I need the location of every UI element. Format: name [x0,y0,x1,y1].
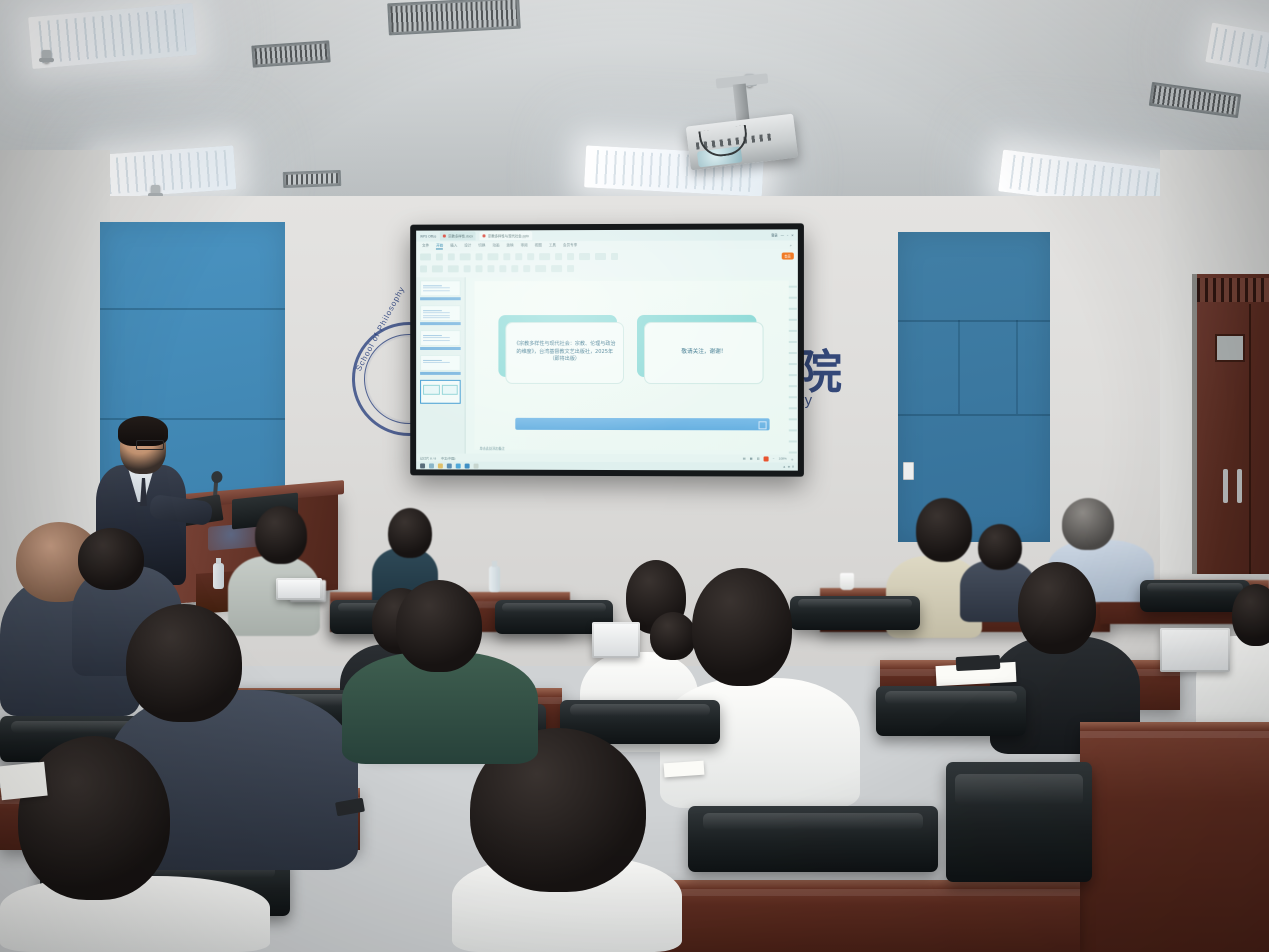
screen-surface: WPS Office 宗教多样性.docx 宗教多样性与现代社会.pptx 登录… [416,229,798,470]
app-titlebar: WPS Office 宗教多样性.docx 宗教多样性与现代社会.pptx 登录… [416,229,798,241]
ribbon-tab-slideshow[interactable]: 放映 [506,243,513,248]
ribbon-tab-file[interactable]: 文件 [422,244,429,249]
slide-card-left-wrap: 《宗教多样性与现代社会：宗教、伦理与政治的维度》，台湾基督教文艺出版社，2025… [506,322,624,384]
text-color-icon[interactable] [464,265,471,272]
desk-row-near-right [1080,722,1269,952]
projection-screen[interactable]: WPS Office 宗教多样性.docx 宗教多样性与现代社会.pptx 登录… [410,223,804,476]
view-reading-icon[interactable]: ▥ [757,456,760,460]
zoom-in-icon[interactable]: ＋ [791,456,794,461]
ribbon-tab-insert[interactable]: 插入 [450,243,457,248]
system-tray[interactable]: ▲ ◈ 8 [783,465,794,469]
underline-icon[interactable] [527,253,534,260]
chair-near-5[interactable] [876,686,1026,736]
slide-card-left[interactable]: 《宗教多样性与现代社会：宗教、伦理与政治的维度》，台湾基督教文艺出版社，2025… [506,322,624,384]
tray-network-icon[interactable]: ▲ [783,465,786,469]
tray-volume-icon[interactable]: ◈ [788,465,790,469]
slide-thumbnail[interactable] [420,330,461,350]
ribbon-row-bottom [420,265,794,273]
slide-thumbnail[interactable] [420,280,461,300]
search-icon[interactable]: ⌕ [790,243,792,247]
shape-outline-icon[interactable] [535,265,546,272]
find-icon[interactable] [611,253,618,260]
door-window [1215,334,1245,362]
format-painter-icon[interactable] [420,265,427,272]
font-box-icon[interactable] [487,253,498,260]
head [388,508,432,558]
slide-card-left-text: 《宗教多样性与现代社会：宗教、伦理与政治的维度》，台湾基督教文艺出版社，2025… [512,341,618,365]
chair-near-8[interactable] [946,762,1092,882]
copy-icon[interactable] [448,253,455,260]
head [78,528,144,590]
ribbon-tab-tools[interactable]: 工具 [549,243,556,248]
replace-icon[interactable] [567,265,574,272]
slide-thumbnail-panel[interactable] [416,277,466,453]
slide-card-row: 《宗教多样性与现代社会：宗教、伦理与政治的维度》，台湾基督教文艺出版社，2025… [506,321,764,383]
presenter-glasses [136,440,164,450]
ceiling-vent-3 [283,170,342,188]
slide-editing-stage[interactable]: 《宗教多样性与现代社会：宗教、伦理与政治的维度》，台湾基督教文艺出版社，2025… [466,277,798,455]
laptop-mid-right[interactable] [1160,628,1230,672]
wall-light-switch[interactable] [903,462,914,480]
ribbon-tab-design[interactable]: 设计 [464,243,471,248]
clock-label: 8 [792,465,794,469]
chair-near-7[interactable] [688,806,938,872]
smartart-icon[interactable] [511,265,518,272]
slide-thumbnail[interactable] [420,305,461,325]
door-handle-left[interactable] [1223,469,1228,503]
titlebar-right-controls: 登录 — ▫ ✕ [771,232,794,237]
ribbon-tab-home[interactable]: 开始 [436,243,443,249]
head [978,524,1022,570]
paste-icon[interactable] [420,253,431,260]
font-size-icon[interactable] [448,265,459,272]
view-normal-icon[interactable]: ▤ [743,456,746,460]
ribbon-tab-animation[interactable]: 动画 [492,243,499,248]
arrange-icon[interactable] [595,253,606,260]
door-handle-right[interactable] [1237,469,1242,503]
slide-card-right-wrap: 敬请关注，谢谢！ [644,321,763,383]
vertical-scrollbar[interactable] [789,277,797,455]
section-icon[interactable] [432,265,443,272]
blue-acoustic-panel-right [898,232,1050,542]
start-icon[interactable] [420,463,425,468]
os-taskbar[interactable]: ▲ ◈ 8 [416,461,798,470]
paper-cup [840,573,854,590]
document-tab-2[interactable]: 宗教多样性与现代社会.pptx [480,231,532,240]
ribbon-tab-review[interactable]: 审阅 [521,243,528,248]
head [1062,498,1114,550]
app-icon-2[interactable] [465,463,470,468]
search-taskbar-icon[interactable] [429,463,434,468]
close-icon[interactable]: ✕ [791,233,794,237]
handout-near-left [0,762,48,801]
view-sorter-icon[interactable]: ▦ [750,456,753,460]
head [18,736,170,900]
ribbon-tab-vip[interactable]: 会员专享 [563,243,577,248]
head [692,568,792,686]
ribbon-row-top: 会员 [420,253,794,261]
doc-icon [443,235,446,238]
head [255,506,307,564]
bullets-icon[interactable] [555,253,562,260]
hair-bun [650,612,696,660]
bold-icon[interactable] [503,253,510,260]
ppt-icon [483,234,486,237]
italic-icon[interactable] [515,253,522,260]
zoom-out-icon[interactable]: − [773,456,775,460]
app-icon-3[interactable] [474,463,479,468]
indent-icon[interactable] [487,265,494,272]
browser-icon[interactable] [456,463,461,468]
app-icon-1[interactable] [447,463,452,468]
text-direction-icon[interactable] [499,265,506,272]
ribbon-tab-transition[interactable]: 切换 [478,243,485,248]
panel-light-2 [99,145,237,198]
chair-mid-3[interactable] [790,596,920,630]
app-logo-label: WPS Office [420,234,436,238]
notes-placeholder[interactable]: 单击此处添加备注 [480,446,505,451]
slide-card-right-text: 敬请关注，谢谢！ [681,348,726,357]
select-icon[interactable] [551,265,562,272]
ribbon-tab-view[interactable]: 视图 [535,243,542,248]
slide-footer-bar[interactable] [515,418,770,431]
zoom-level-label[interactable]: 100% [779,457,787,461]
head [126,604,242,722]
account-label[interactable]: 登录 [771,232,777,237]
current-slide[interactable]: 《宗教多样性与现代社会：宗教、伦理与政治的维度》，台湾基督教文艺出版社，2025… [475,281,789,451]
rear-wooden-door[interactable] [1192,274,1269,574]
water-bottle-podium [213,563,224,589]
sprinkler-1 [42,50,51,63]
align-icon[interactable] [539,253,550,260]
numbering-icon[interactable] [567,253,574,260]
slide-thumbnail[interactable] [420,355,461,375]
document-tab-1-label: 宗教多样性.docx [448,233,473,238]
door-split [1249,304,1251,574]
new-slide-icon[interactable] [460,253,471,260]
slide-thumbnail-selected[interactable] [420,380,461,404]
head [1018,562,1096,654]
layout-icon[interactable] [476,253,483,260]
handout-near-center [664,761,705,778]
maximize-icon[interactable]: ▫ [787,233,788,237]
explorer-icon[interactable] [438,463,443,468]
document-tab-2-label: 宗教多样性与现代社会.pptx [488,233,529,238]
laptop-near-left[interactable] [276,578,322,600]
slide-card-right[interactable]: 敬请关注，谢谢！ [644,321,763,383]
head [396,580,482,672]
door-transom [1197,278,1269,302]
app-workspace: 《宗教多样性与现代社会：宗教、伦理与政治的维度》，台湾基督教文艺出版社，2025… [416,277,798,455]
head [916,498,972,562]
shape-fill-icon[interactable] [579,253,590,260]
document-tab-1[interactable]: 宗教多样性.docx [440,231,476,240]
vip-badge[interactable]: 会员 [781,253,793,260]
slide-counter-label: 幻灯片 8 / 8 [420,455,436,460]
cut-icon[interactable] [436,253,443,260]
slideshow-icon[interactable] [764,456,769,461]
head [1232,584,1269,646]
lecture-room-photo: School of Philosophy 院 ty WPS Office 宗教多… [0,0,1269,952]
picture-icon[interactable] [523,265,530,272]
status-bar-right: ▤ ▦ ▥ − 100% ＋ [743,456,794,461]
language-label[interactable]: 中文(中国) [441,455,455,460]
ribbon-toolbar: 会员 [416,249,798,278]
laptop-mid-center[interactable] [592,622,640,658]
minimize-icon[interactable]: — [781,233,784,237]
water-bottle-desk [489,566,500,592]
line-spacing-icon[interactable] [476,265,483,272]
phone-mid[interactable] [956,655,1001,671]
